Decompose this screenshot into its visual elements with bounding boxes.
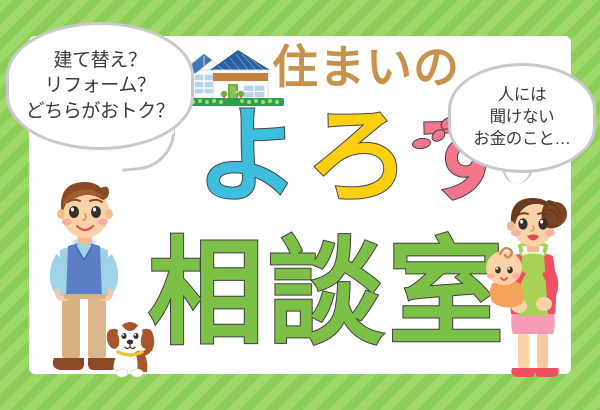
left-bubble-text: 建て替え？ リフォーム？ どちらがおトク？ <box>26 48 175 124</box>
right-bubble-line-1: 人には <box>473 85 570 107</box>
left-bubble-line-2: リフォーム？ <box>26 73 175 98</box>
headline-char-ro: ろ <box>306 104 416 208</box>
left-bubble-line-1: 建て替え？ <box>26 48 175 73</box>
speech-bubble-right: 人には 聞けない お金のこと… <box>448 63 596 173</box>
speech-bubble-left: 建て替え？ リフォーム？ どちらがおトク？ <box>6 22 194 150</box>
headline-line-3: 相談室 <box>148 236 508 352</box>
right-bubble-line-3: お金のこと… <box>473 129 570 151</box>
left-bubble-line-3: どちらがおトク？ <box>26 99 175 124</box>
dog-illustration <box>104 316 160 378</box>
right-bubble-line-2: 聞けない <box>473 107 570 129</box>
right-bubble-text: 人には 聞けない お金のこと… <box>473 85 570 151</box>
headline-char-yo: よ <box>196 104 306 208</box>
mother-baby-illustration <box>482 196 584 382</box>
headline-line-1: 住まいの <box>272 44 460 90</box>
banner-stage: 住まいの よろす 相談室 <box>0 0 600 410</box>
